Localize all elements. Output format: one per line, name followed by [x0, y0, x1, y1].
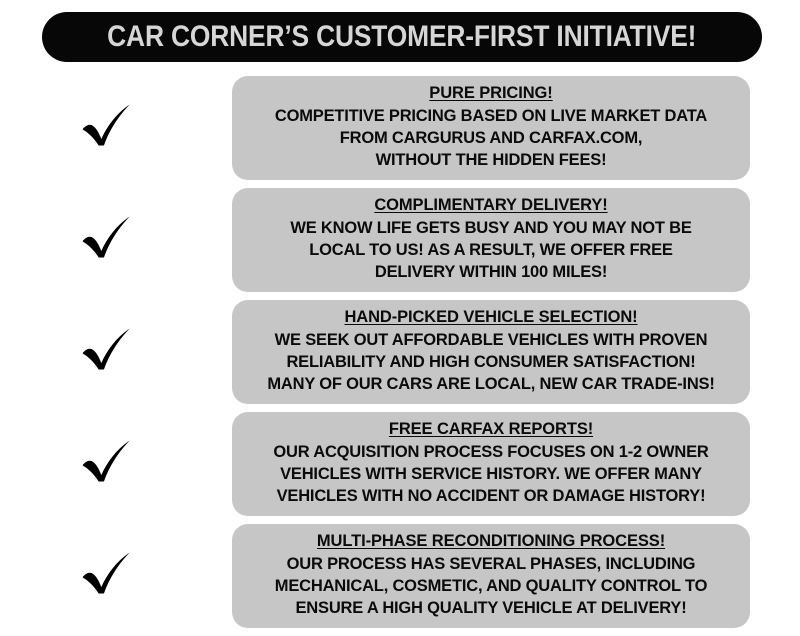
benefit-row: COMPLIMENTARY DELIVERY! WE KNOW LIFE GET…	[0, 188, 800, 292]
benefit-line: VEHICLES WITH SERVICE HISTORY. WE OFFER …	[246, 463, 736, 485]
benefit-title: PURE PRICING!	[246, 83, 736, 104]
check-cell	[0, 324, 232, 380]
benefit-title: MULTI-PHASE RECONDITIONING PROCESS!	[246, 531, 736, 552]
benefit-line: WE SEEK OUT AFFORDABLE VEHICLES WITH PRO…	[246, 329, 736, 351]
check-cell	[0, 212, 232, 268]
check-mark-icon	[79, 324, 135, 380]
benefit-line: WE KNOW LIFE GETS BUSY AND YOU MAY NOT B…	[246, 217, 736, 239]
benefit-line: OUR PROCESS HAS SEVERAL PHASES, INCLUDIN…	[246, 553, 736, 575]
benefit-title: FREE CARFAX REPORTS!	[246, 419, 736, 440]
benefit-row: MULTI-PHASE RECONDITIONING PROCESS! OUR …	[0, 524, 800, 628]
benefit-line: LOCAL TO US! AS A RESULT, WE OFFER FREE	[246, 239, 736, 261]
promo-poster: CAR CORNER’S CUSTOMER-FIRST INITIATIVE! …	[0, 0, 800, 633]
benefit-title: HAND-PICKED VEHICLE SELECTION!	[246, 307, 736, 328]
benefit-body: OUR ACQUISITION PROCESS FOCUSES ON 1-2 O…	[246, 441, 736, 507]
benefit-line: WITHOUT THE HIDDEN FEES!	[246, 149, 736, 171]
check-mark-icon	[79, 436, 135, 492]
benefit-line: COMPETITIVE PRICING BASED ON LIVE MARKET…	[246, 105, 736, 127]
benefit-card: PURE PRICING! COMPETITIVE PRICING BASED …	[232, 76, 750, 180]
check-mark-icon	[79, 548, 135, 604]
benefit-line: MANY OF OUR CARS ARE LOCAL, NEW CAR TRAD…	[246, 373, 736, 395]
benefit-line: FROM CARGURUS AND CARFAX.COM,	[246, 127, 736, 149]
header-banner: CAR CORNER’S CUSTOMER-FIRST INITIATIVE!	[42, 12, 762, 62]
benefit-body: COMPETITIVE PRICING BASED ON LIVE MARKET…	[246, 105, 736, 171]
benefit-row: PURE PRICING! COMPETITIVE PRICING BASED …	[0, 76, 800, 180]
benefit-card: FREE CARFAX REPORTS! OUR ACQUISITION PRO…	[232, 412, 750, 516]
benefits-list: PURE PRICING! COMPETITIVE PRICING BASED …	[0, 76, 800, 636]
benefit-body: WE SEEK OUT AFFORDABLE VEHICLES WITH PRO…	[246, 329, 736, 395]
benefit-body: WE KNOW LIFE GETS BUSY AND YOU MAY NOT B…	[246, 217, 736, 283]
check-mark-icon	[79, 212, 135, 268]
benefit-card: COMPLIMENTARY DELIVERY! WE KNOW LIFE GET…	[232, 188, 750, 292]
benefit-card: MULTI-PHASE RECONDITIONING PROCESS! OUR …	[232, 524, 750, 628]
benefit-line: OUR ACQUISITION PROCESS FOCUSES ON 1-2 O…	[246, 441, 736, 463]
benefit-line: MECHANICAL, COSMETIC, AND QUALITY CONTRO…	[246, 575, 736, 597]
check-cell	[0, 548, 232, 604]
check-mark-icon	[79, 100, 135, 156]
benefit-row: FREE CARFAX REPORTS! OUR ACQUISITION PRO…	[0, 412, 800, 516]
benefit-body: OUR PROCESS HAS SEVERAL PHASES, INCLUDIN…	[246, 553, 736, 619]
page-title: CAR CORNER’S CUSTOMER-FIRST INITIATIVE!	[107, 22, 696, 52]
benefit-line: RELIABILITY AND HIGH CONSUMER SATISFACTI…	[246, 351, 736, 373]
check-cell	[0, 100, 232, 156]
benefit-card: HAND-PICKED VEHICLE SELECTION! WE SEEK O…	[232, 300, 750, 404]
benefit-line: VEHICLES WITH NO ACCIDENT OR DAMAGE HIST…	[246, 485, 736, 507]
benefit-row: HAND-PICKED VEHICLE SELECTION! WE SEEK O…	[0, 300, 800, 404]
benefit-line: ENSURE A HIGH QUALITY VEHICLE AT DELIVER…	[246, 597, 736, 619]
benefit-title: COMPLIMENTARY DELIVERY!	[246, 195, 736, 216]
benefit-line: DELIVERY WITHIN 100 MILES!	[246, 261, 736, 283]
check-cell	[0, 436, 232, 492]
